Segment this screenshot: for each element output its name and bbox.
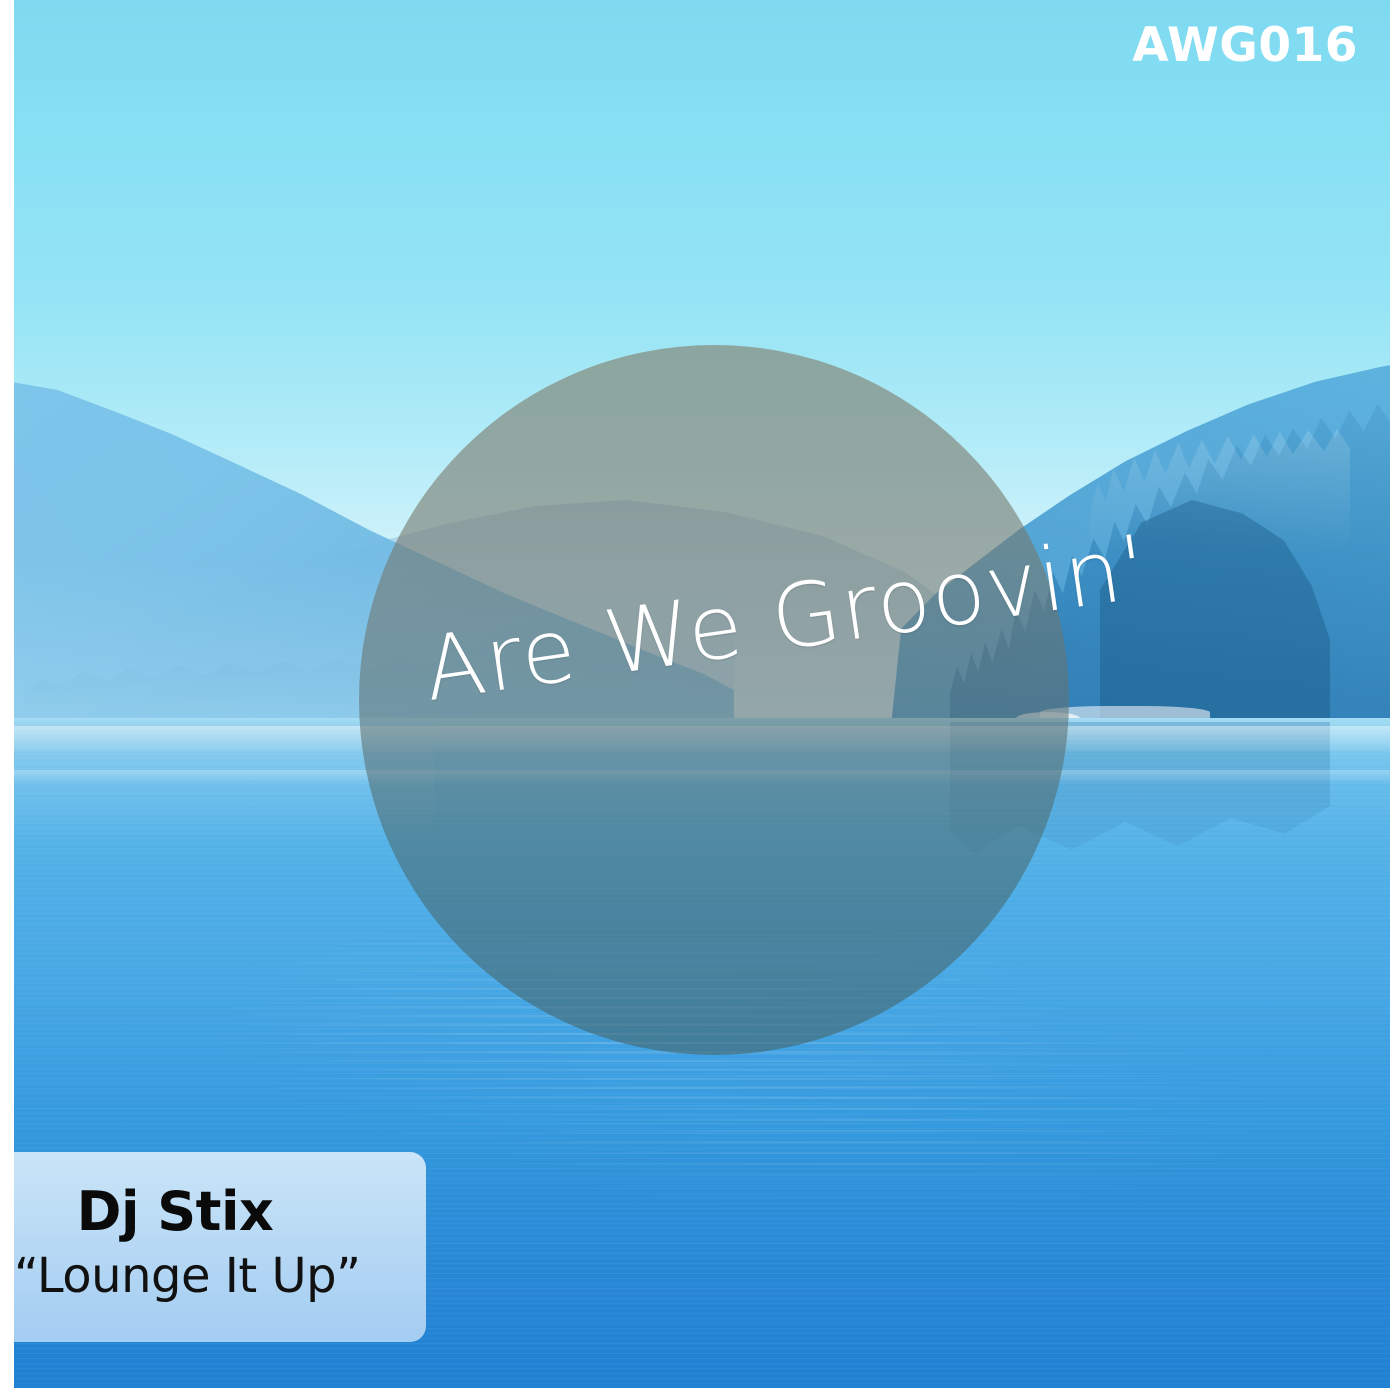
catalog-number: AWG016	[1132, 18, 1358, 73]
album-cover: Are We Groovin' AWG016 Dj Stix “Lounge I…	[0, 0, 1400, 1400]
track-title: “Lounge It Up”	[14, 1248, 426, 1304]
frame-edge-bottom	[0, 1388, 1400, 1400]
artist-info-panel: Dj Stix “Lounge It Up”	[14, 1152, 426, 1342]
frame-edge-left	[0, 0, 14, 1400]
cover-artwork: Are We Groovin' AWG016 Dj Stix “Lounge I…	[14, 0, 1390, 1388]
frame-edge-right	[1390, 0, 1400, 1400]
artist-name: Dj Stix	[14, 1180, 426, 1243]
